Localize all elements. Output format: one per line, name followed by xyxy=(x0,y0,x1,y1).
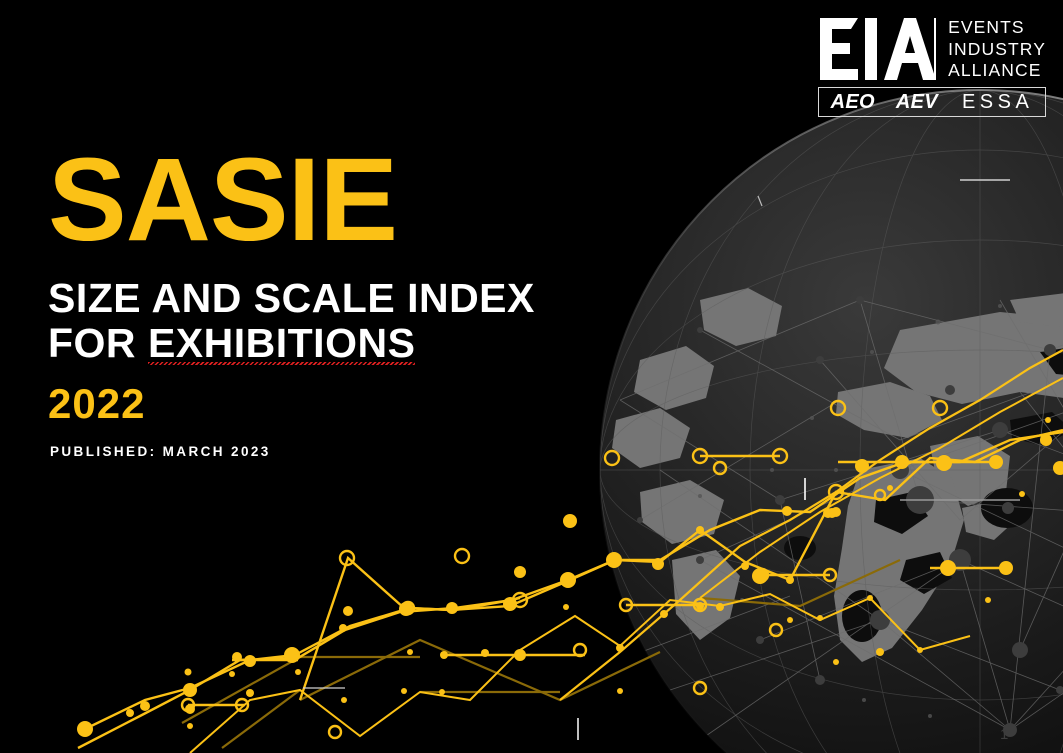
report-subtitle: SIZE AND SCALE INDEX FOR EXHIBITIONS xyxy=(48,276,668,366)
brand-title: SASIE xyxy=(48,148,668,252)
subtitle-prefix: FOR xyxy=(48,320,148,366)
cover-page: EVENTS INDUSTRY ALLIANCE AEO AEV ESSA SA… xyxy=(0,0,1063,753)
page-number: 1 xyxy=(1000,726,1008,743)
member-aev: AEV xyxy=(896,91,938,114)
report-year: 2022 xyxy=(48,382,668,426)
member-essa: ESSA xyxy=(959,91,1033,114)
eia-logo-top: EVENTS INDUSTRY ALLIANCE xyxy=(818,16,1046,82)
logo-word-alliance: ALLIANCE xyxy=(948,60,1046,82)
headline-block: SASIE SIZE AND SCALE INDEX FOR EXHIBITIO… xyxy=(48,148,668,459)
published-date: PUBLISHED: MARCH 2023 xyxy=(50,444,668,459)
eia-wordmark-icon xyxy=(818,16,934,82)
logo-word-events: EVENTS xyxy=(948,17,1046,39)
eia-logo-words: EVENTS INDUSTRY ALLIANCE xyxy=(948,16,1046,82)
logo-divider xyxy=(934,18,936,80)
logo-word-industry: INDUSTRY xyxy=(948,39,1046,61)
subtitle-line-2: FOR EXHIBITIONS xyxy=(48,321,415,366)
subtitle-line-1: SIZE AND SCALE INDEX xyxy=(48,275,535,321)
eia-logo: EVENTS INDUSTRY ALLIANCE AEO AEV ESSA xyxy=(818,16,1046,117)
eia-member-box: AEO AEV ESSA xyxy=(818,87,1046,117)
spellcheck-underlined-word: EXHIBITIONS xyxy=(148,321,415,366)
member-aeo: AEO xyxy=(831,91,875,114)
